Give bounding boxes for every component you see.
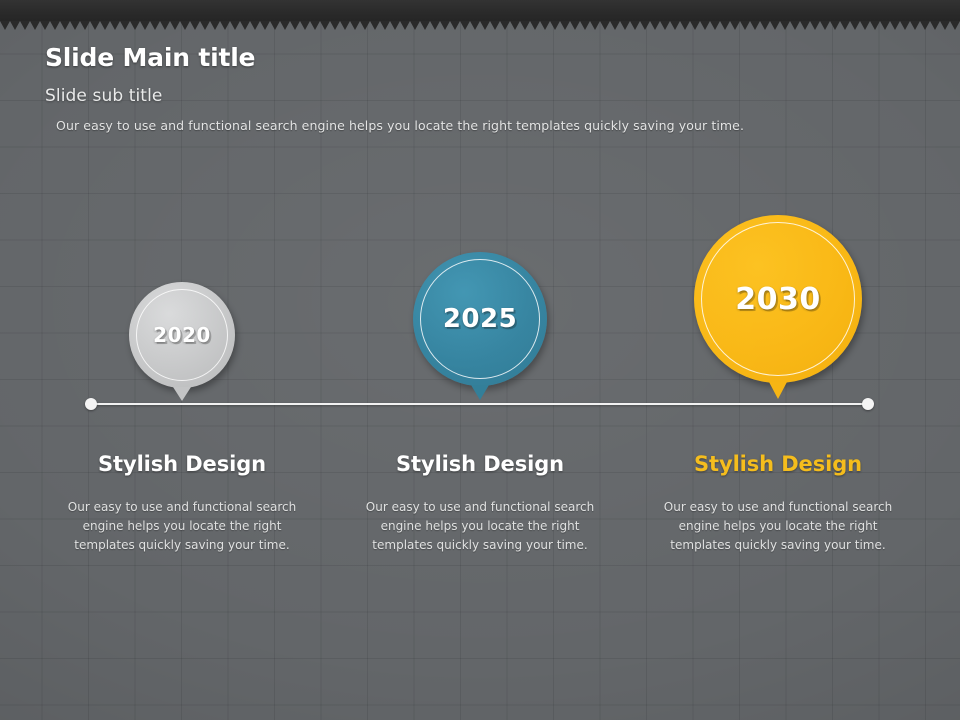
year-label: 2030 bbox=[735, 282, 821, 317]
content-column-1: Stylish Design Our easy to use and funct… bbox=[57, 452, 307, 555]
column-heading: Stylish Design bbox=[653, 452, 903, 476]
timeline-axis bbox=[90, 403, 869, 405]
year-bubble-2020[interactable]: 2020 bbox=[129, 282, 235, 388]
timeline-node-2030[interactable]: 2030 bbox=[694, 215, 862, 383]
sawtooth-edge-icon bbox=[0, 21, 960, 30]
year-label: 2020 bbox=[153, 323, 211, 347]
top-dark-bar bbox=[0, 0, 960, 21]
year-bubble-2025[interactable]: 2025 bbox=[413, 252, 547, 386]
column-heading: Stylish Design bbox=[355, 452, 605, 476]
timeline-dot-left bbox=[85, 398, 97, 410]
slide-canvas: Slide Main title Slide sub title Our eas… bbox=[0, 0, 960, 720]
year-bubble-2030[interactable]: 2030 bbox=[694, 215, 862, 383]
column-heading: Stylish Design bbox=[57, 452, 307, 476]
page-title: Slide Main title bbox=[45, 43, 255, 72]
bubble-pointer-icon bbox=[769, 382, 787, 399]
bubble-pointer-icon bbox=[471, 385, 489, 400]
bubble-pointer-icon bbox=[173, 387, 191, 401]
timeline-node-2020[interactable]: 2020 bbox=[129, 282, 235, 388]
content-column-3: Stylish Design Our easy to use and funct… bbox=[653, 452, 903, 555]
content-column-2: Stylish Design Our easy to use and funct… bbox=[355, 452, 605, 555]
year-label: 2025 bbox=[443, 304, 517, 334]
column-body: Our easy to use and functional search en… bbox=[57, 498, 307, 555]
column-body: Our easy to use and functional search en… bbox=[355, 498, 605, 555]
lead-description: Our easy to use and functional search en… bbox=[56, 118, 744, 133]
page-subtitle: Slide sub title bbox=[45, 86, 162, 106]
timeline-dot-right bbox=[862, 398, 874, 410]
column-body: Our easy to use and functional search en… bbox=[653, 498, 903, 555]
timeline-node-2025[interactable]: 2025 bbox=[413, 252, 547, 386]
